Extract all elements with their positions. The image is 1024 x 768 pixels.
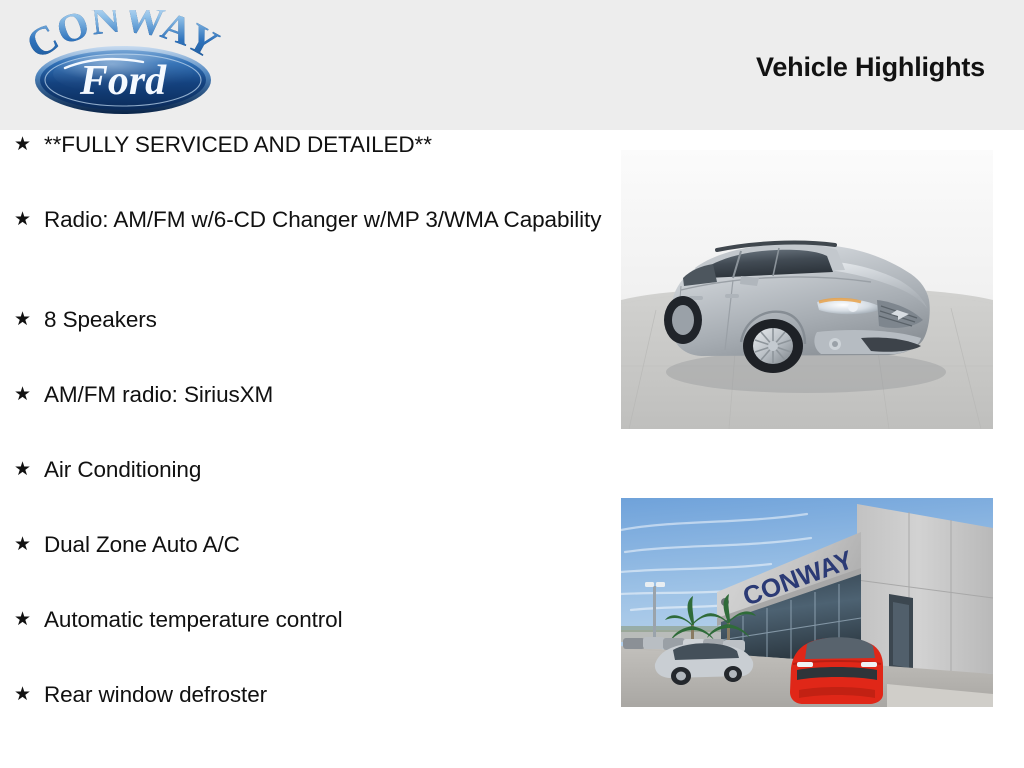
conway-ford-logo-graphic: Ford CONWAY CONWAY <box>25 10 221 120</box>
star-icon: ★ <box>14 305 44 335</box>
star-icon: ★ <box>14 530 44 560</box>
list-item: ★ AM/FM radio: SiriusXM <box>0 380 612 455</box>
list-item-label: Air Conditioning <box>44 455 602 485</box>
dealership-photo-graphic: CONWAY <box>621 498 993 707</box>
list-item: ★ 8 Speakers <box>0 305 612 380</box>
star-icon: ★ <box>14 205 44 235</box>
star-icon: ★ <box>14 680 44 710</box>
conway-ford-logo[interactable]: Ford CONWAY CONWAY <box>25 10 221 120</box>
star-icon: ★ <box>14 380 44 410</box>
svg-text:Ford: Ford <box>79 58 167 104</box>
page-title: Vehicle Highlights <box>756 52 985 83</box>
list-item: ★ Automatic temperature control <box>0 605 612 680</box>
list-item-label: Rear window defroster <box>44 680 602 710</box>
list-item-label: Automatic temperature control <box>44 605 602 635</box>
dealership-photo[interactable]: CONWAY <box>621 498 993 707</box>
star-icon: ★ <box>14 455 44 485</box>
list-item-label: Dual Zone Auto A/C <box>44 530 602 560</box>
list-item-label: Radio: AM/FM w/6-CD Changer w/MP 3/WMA C… <box>44 205 602 235</box>
list-item: ★ Air Conditioning <box>0 455 612 530</box>
header-bar: Ford CONWAY CONWAY Vehicle Highlights <box>0 0 1024 130</box>
vehicle-photo-graphic <box>621 150 993 429</box>
list-item: ★ **FULLY SERVICED AND DETAILED** <box>0 130 612 205</box>
list-item-label: 8 Speakers <box>44 305 602 335</box>
vehicle-photo[interactable] <box>621 150 993 429</box>
star-icon: ★ <box>14 130 44 160</box>
list-item: ★ Radio: AM/FM w/6-CD Changer w/MP 3/WMA… <box>0 205 612 305</box>
list-item-label: AM/FM radio: SiriusXM <box>44 380 602 410</box>
list-item: ★ Dual Zone Auto A/C <box>0 530 612 605</box>
vehicle-highlights-list: ★ **FULLY SERVICED AND DETAILED** ★ Radi… <box>0 130 612 768</box>
list-item-label: **FULLY SERVICED AND DETAILED** <box>44 130 602 160</box>
list-item: ★ Rear window defroster <box>0 680 612 755</box>
star-icon: ★ <box>14 605 44 635</box>
